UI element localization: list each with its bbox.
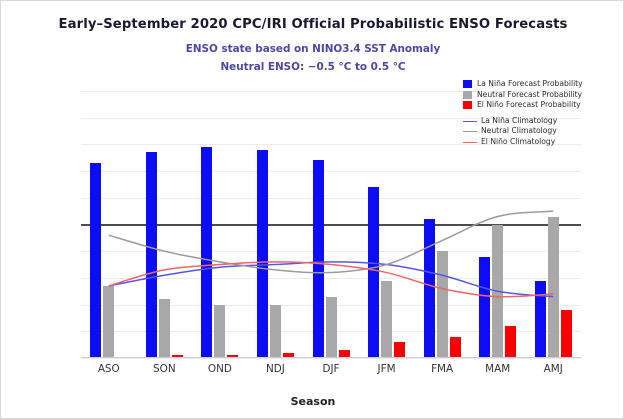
legend-swatch-icon: [463, 91, 472, 99]
legend-line-icon: [463, 121, 477, 122]
climatology-line: [109, 211, 553, 273]
climatology-line: [109, 262, 553, 297]
x-axis-tick-label: FMA: [431, 363, 453, 375]
chart-title: Early–September 2020 CPC/IRI Official Pr…: [1, 17, 624, 32]
legend-line-icon: [463, 142, 477, 143]
legend-item: Neutral Forecast Probability: [463, 90, 583, 101]
x-axis-tick-label: JFM: [378, 363, 396, 375]
x-axis-tick-label: AMJ: [544, 363, 563, 375]
legend-item: La Niña Forecast Probability: [463, 79, 583, 90]
chart-subtitle-1: ENSO state based on NINO3.4 SST Anomaly: [1, 43, 624, 55]
x-axis-tick-label: SON: [153, 363, 176, 375]
x-axis-tick-label: NDJ: [266, 363, 285, 375]
legend-label: Neutral Forecast Probability: [477, 90, 582, 101]
x-axis-tick-label: DJF: [322, 363, 339, 375]
legend-swatch-icon: [463, 80, 472, 88]
legend-item: El Niño Forecast Probability: [463, 100, 583, 111]
legend-item: El Niño Climatology: [463, 137, 583, 148]
x-axis-tick-label: MAM: [485, 363, 510, 375]
x-axis-label: Season: [1, 395, 624, 408]
legend-label: Neutral Climatology: [481, 126, 557, 137]
legend-label: La Niña Forecast Probability: [477, 79, 583, 90]
legend-line-icon: [463, 131, 477, 132]
x-axis-tick-label: ASO: [98, 363, 120, 375]
legend-item: Neutral Climatology: [463, 126, 583, 137]
legend-label: El Niño Forecast Probability: [477, 100, 581, 111]
legend-label: La Niña Climatology: [481, 116, 557, 127]
chart-legend: La Niña Forecast ProbabilityNeutral Fore…: [463, 79, 583, 148]
x-axis-line: [81, 357, 581, 358]
legend-item: La Niña Climatology: [463, 116, 583, 127]
chart-subtitle-2: Neutral ENSO: −0.5 °C to 0.5 °C: [1, 61, 624, 73]
legend-label: El Niño Climatology: [481, 137, 555, 148]
climatology-line: [109, 262, 553, 297]
x-axis-tick-label: OND: [208, 363, 232, 375]
gridline: [81, 358, 581, 359]
legend-swatch-icon: [463, 101, 472, 109]
chart-figure: Early–September 2020 CPC/IRI Official Pr…: [0, 0, 624, 419]
